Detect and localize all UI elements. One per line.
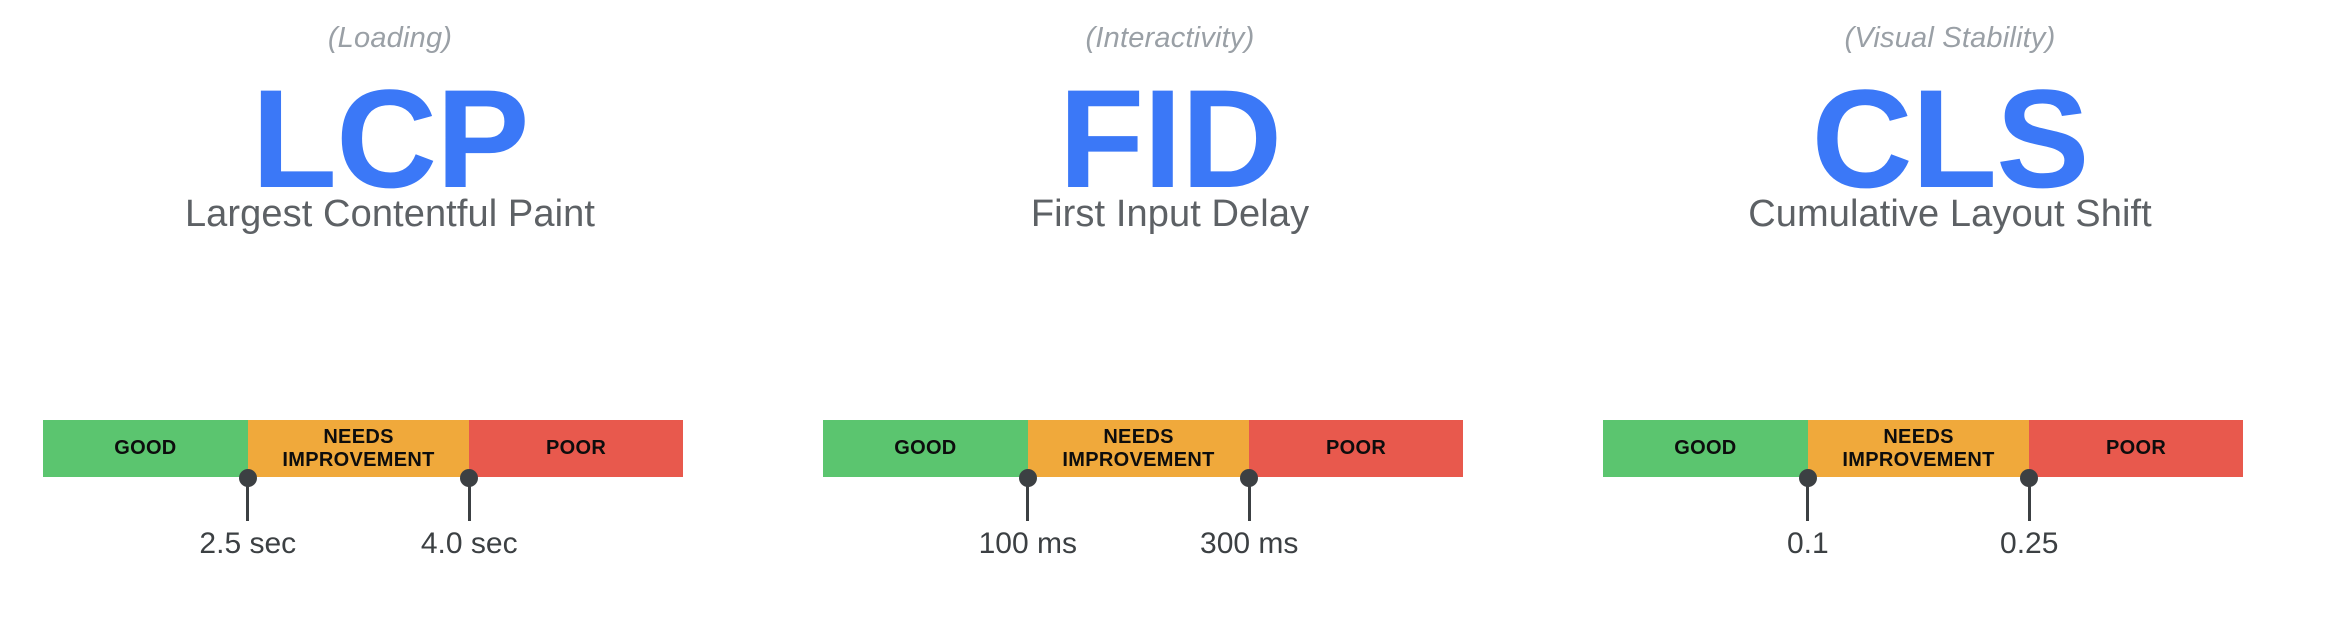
segment-poor: POOR — [1249, 420, 1463, 477]
metric-panel-lcp: (Loading) LCP Largest Contentful Paint G… — [0, 0, 780, 628]
metric-category-label: (Visual Stability) — [1560, 24, 2340, 53]
threshold-bar: GOOD NEEDS IMPROVEMENT POOR — [43, 420, 683, 477]
segment-good: GOOD — [823, 420, 1028, 477]
segment-good: GOOD — [43, 420, 248, 477]
threshold-label: 4.0 sec — [421, 529, 518, 559]
threshold-bar: GOOD NEEDS IMPROVEMENT POOR — [1603, 420, 2243, 477]
metric-panel-fid: (Interactivity) FID First Input Delay GO… — [780, 0, 1560, 628]
segment-poor: POOR — [469, 420, 683, 477]
threshold-scale: GOOD NEEDS IMPROVEMENT POOR 0.1 0.25 — [1603, 420, 2243, 502]
threshold-bar: GOOD NEEDS IMPROVEMENT POOR — [823, 420, 1463, 477]
segment-needs-improvement: NEEDS IMPROVEMENT — [1808, 420, 2029, 477]
threshold-label: 0.1 — [1787, 529, 1829, 559]
metric-full-name: First Input Delay — [780, 192, 1560, 238]
metric-full-name: Largest Contentful Paint — [0, 192, 780, 238]
threshold-scale: GOOD NEEDS IMPROVEMENT POOR 2.5 sec 4.0 … — [43, 420, 683, 502]
threshold-label: 2.5 sec — [199, 529, 296, 559]
metric-category-label: (Loading) — [0, 24, 780, 53]
segment-needs-improvement: NEEDS IMPROVEMENT — [1028, 420, 1249, 477]
threshold-label: 0.25 — [2000, 529, 2058, 559]
segment-needs-improvement: NEEDS IMPROVEMENT — [248, 420, 469, 477]
segment-good: GOOD — [1603, 420, 1808, 477]
threshold-scale: GOOD NEEDS IMPROVEMENT POOR 100 ms 300 m… — [823, 420, 1463, 502]
threshold-label: 100 ms — [979, 529, 1077, 559]
metric-full-name: Cumulative Layout Shift — [1560, 192, 2340, 238]
threshold-pin-stem — [2028, 478, 2031, 521]
threshold-pin-stem — [246, 478, 249, 521]
segment-poor: POOR — [2029, 420, 2243, 477]
threshold-pin-stem — [1026, 478, 1029, 521]
threshold-label: 300 ms — [1200, 529, 1298, 559]
threshold-pin-stem — [1806, 478, 1809, 521]
threshold-pin-stem — [1248, 478, 1251, 521]
metric-category-label: (Interactivity) — [780, 24, 1560, 53]
core-web-vitals-board: (Loading) LCP Largest Contentful Paint G… — [0, 0, 2342, 628]
threshold-pin-stem — [468, 478, 471, 521]
metric-panel-cls: (Visual Stability) CLS Cumulative Layout… — [1560, 0, 2340, 628]
